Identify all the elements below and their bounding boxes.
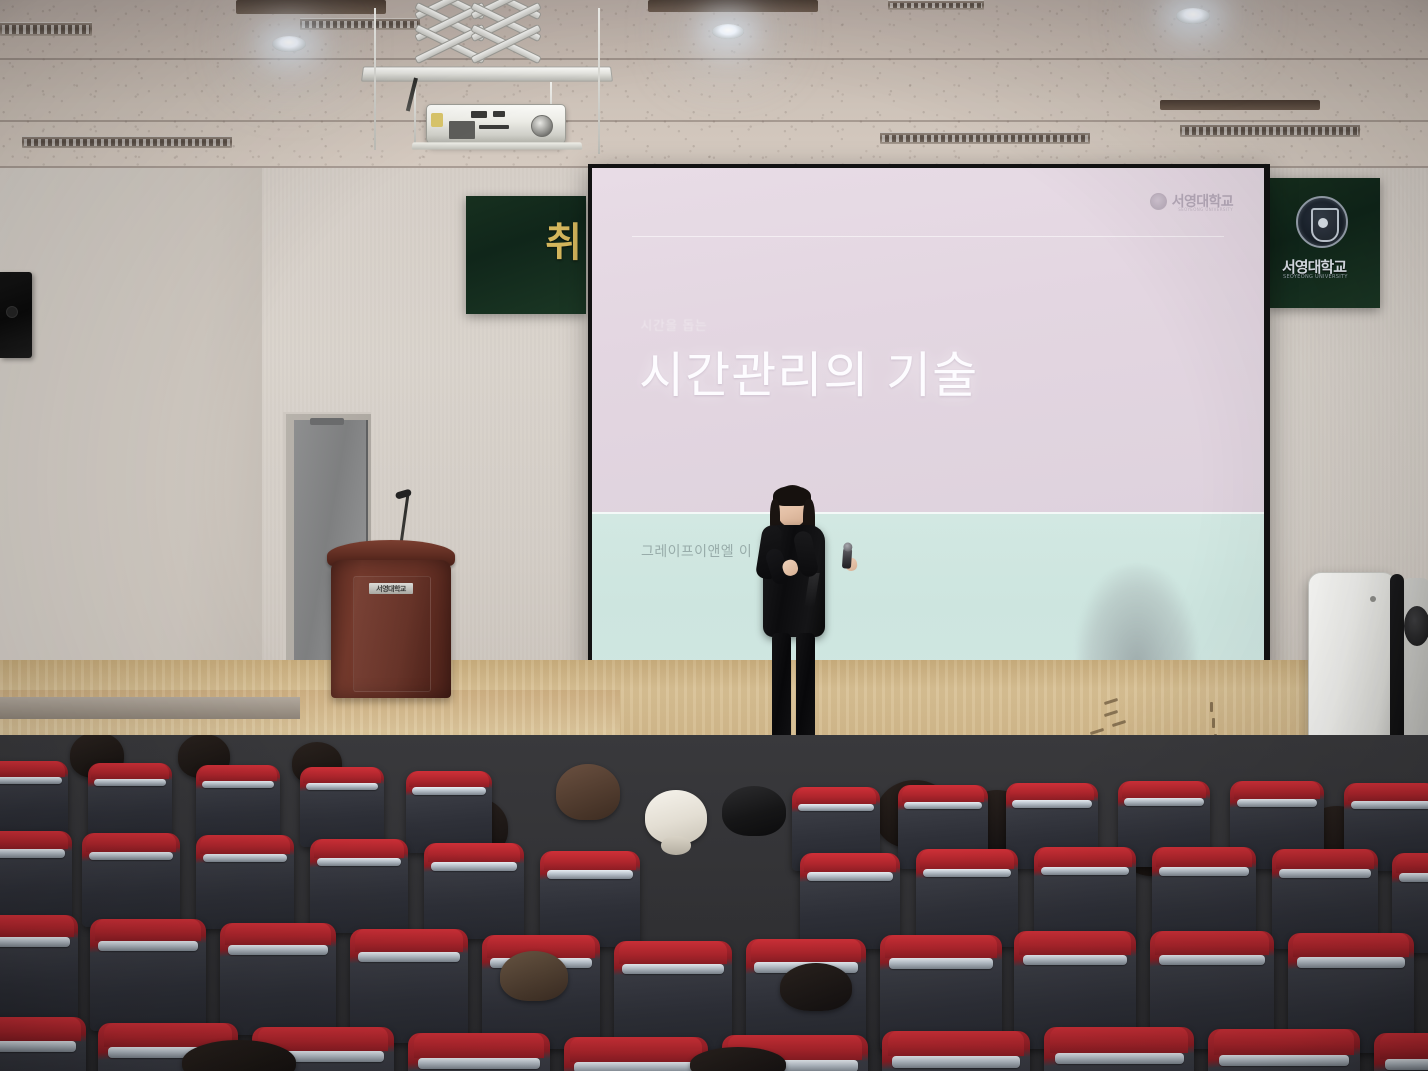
air-purifier-indicator	[1370, 596, 1376, 602]
ceiling-projector	[426, 104, 566, 146]
slide-footer-credit: 그레이프이앤엘 이	[641, 541, 752, 561]
university-emblem-icon	[1296, 196, 1348, 248]
air-vent	[880, 132, 1090, 144]
audience-head	[556, 764, 620, 820]
seat[interactable]	[0, 1017, 86, 1071]
left-wall	[0, 168, 262, 713]
presenter-leg-right	[796, 633, 815, 749]
ceiling-downlight	[272, 36, 306, 52]
seat[interactable]	[220, 923, 336, 1035]
seat[interactable]	[916, 849, 1018, 947]
ceiling-downlight	[1176, 8, 1210, 24]
ceiling-downlight	[712, 24, 744, 39]
seat[interactable]	[0, 761, 68, 839]
air-vent	[22, 136, 232, 148]
presenter-leg-left	[772, 633, 791, 749]
slide-title: 시간관리의 기술	[639, 336, 978, 407]
audience-seating	[0, 735, 1428, 1071]
seat[interactable]	[540, 851, 640, 947]
slide-divider	[592, 512, 1264, 514]
air-vent	[888, 0, 984, 10]
seat[interactable]	[1044, 1027, 1194, 1071]
podium-body	[331, 560, 451, 698]
presenter-raised-arm	[755, 524, 783, 580]
ceiling-recess	[1160, 100, 1320, 110]
suspension-rod	[374, 8, 376, 150]
seat[interactable]	[800, 853, 900, 949]
banner-left-text: 취	[545, 224, 580, 262]
seat[interactable]	[0, 831, 72, 923]
projection-screen: 서영대학교 SEOYEONG UNIVERSITY 시간을 돕는 시간관리의 기…	[592, 168, 1264, 670]
ceiling-recess	[648, 0, 818, 12]
ceiling-seam	[0, 58, 1428, 60]
seat[interactable]	[408, 1033, 550, 1071]
presenter-lapel	[804, 573, 819, 607]
seat[interactable]	[196, 765, 280, 845]
wall-baseboard	[0, 697, 300, 719]
air-vent	[0, 22, 92, 36]
floor-tape-mark	[1210, 702, 1213, 712]
seat[interactable]	[82, 833, 180, 927]
projector-mount-arm	[406, 78, 418, 112]
air-purifier-vent-icon	[1404, 606, 1428, 646]
seat[interactable]	[300, 767, 384, 847]
floor-tape-mark	[1212, 718, 1215, 728]
slide-university-logo: 서영대학교 SEOYEONG UNIVERSITY	[1150, 191, 1233, 211]
seat[interactable]	[406, 771, 492, 853]
projector-base-plate	[411, 142, 582, 149]
seat[interactable]	[90, 919, 206, 1031]
slide-logo-subtext: SEOYEONG UNIVERSITY	[1178, 207, 1233, 212]
lift-plate	[361, 66, 613, 81]
seat[interactable]	[350, 929, 468, 1043]
university-seal-icon	[1150, 193, 1167, 210]
banner-right: 서영대학교 SEOYEONG UNIVERSITY	[1268, 178, 1380, 308]
slide-header-rule	[632, 236, 1223, 237]
seat[interactable]	[564, 1037, 708, 1071]
air-vent	[1180, 124, 1360, 137]
audience-head	[500, 951, 568, 1001]
seat[interactable]	[196, 835, 294, 929]
seat[interactable]	[882, 1031, 1030, 1071]
seat[interactable]	[88, 763, 172, 843]
seat[interactable]	[0, 915, 78, 1025]
seat[interactable]	[1374, 1033, 1428, 1071]
ceiling	[0, 0, 1428, 175]
slide-eyebrow: 시간을 돕는	[640, 315, 707, 334]
handheld-microphone-icon	[842, 546, 853, 569]
suspension-rod	[598, 8, 600, 154]
projector-lift	[352, 0, 652, 172]
wall-speaker	[0, 272, 32, 358]
auditorium-scene: 취 서영대학교 SEOYEONG UNIVERSITY 서영대학교 SEOYEO…	[0, 0, 1428, 1071]
seat[interactable]	[310, 839, 408, 933]
seat[interactable]	[1208, 1029, 1360, 1071]
audience-head	[780, 963, 852, 1011]
seat[interactable]	[424, 843, 524, 939]
podium-nameplate: 서영대학교	[369, 583, 413, 594]
audience-white-cap	[645, 790, 707, 844]
projector-lens	[531, 115, 553, 137]
ceiling-seam	[0, 120, 1428, 122]
banner-left: 취	[466, 196, 586, 314]
projection-screen-frame: 서영대학교 SEOYEONG UNIVERSITY 시간을 돕는 시간관리의 기…	[588, 164, 1270, 676]
audience-black-cap	[722, 786, 786, 836]
projector-label	[431, 113, 443, 127]
podium-nameplate-text: 서영대학교	[376, 584, 406, 594]
banner-right-sublabel: SEOYEONG UNIVERSITY	[1283, 274, 1348, 280]
door-closer	[310, 418, 344, 425]
speaker-cone-icon	[6, 306, 18, 318]
scissor-lift-mechanism	[412, 0, 552, 74]
podium[interactable]: 서영대학교	[325, 540, 457, 700]
presenter	[745, 485, 841, 770]
